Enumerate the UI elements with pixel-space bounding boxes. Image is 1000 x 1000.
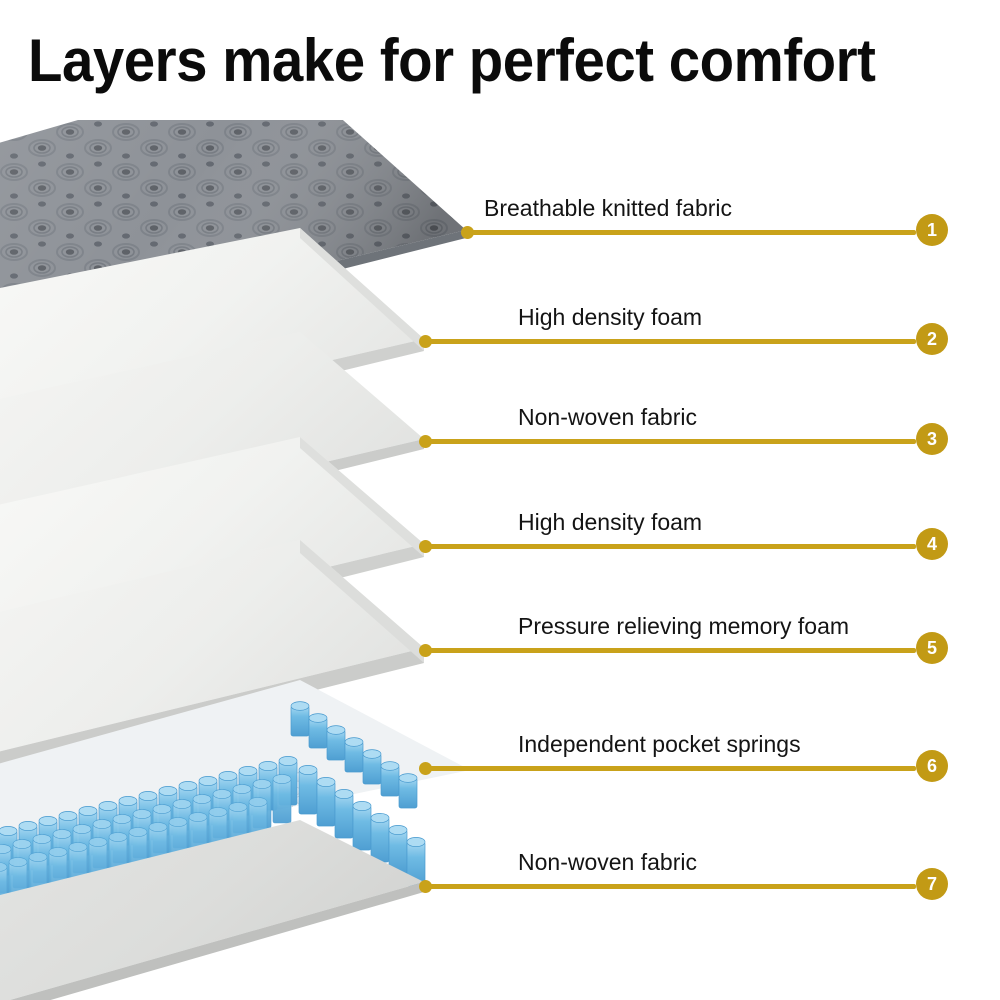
leader-dot-2 bbox=[419, 335, 432, 348]
leader-dot-4 bbox=[419, 540, 432, 553]
infographic-canvas: Layers make for perfect comfort bbox=[0, 0, 1000, 1000]
leader-dot-1 bbox=[461, 226, 474, 239]
layer-badge-6[interactable]: 6 bbox=[916, 750, 948, 782]
layer-badge-5[interactable]: 5 bbox=[916, 632, 948, 664]
layer-label-2: High density foam bbox=[518, 304, 702, 330]
mattress-layer-illustration bbox=[0, 120, 520, 1000]
leader-dot-7 bbox=[419, 880, 432, 893]
leader-line-1 bbox=[466, 230, 916, 235]
leader-line-6 bbox=[424, 766, 916, 771]
layer-label-4: High density foam bbox=[518, 509, 702, 535]
layer-label-1: Breathable knitted fabric bbox=[484, 195, 732, 221]
leader-line-3 bbox=[424, 439, 916, 444]
page-title: Layers make for perfect comfort bbox=[28, 30, 921, 92]
leader-line-2 bbox=[424, 339, 916, 344]
layer-label-6: Independent pocket springs bbox=[518, 731, 801, 757]
layer-label-3: Non-woven fabric bbox=[518, 404, 697, 430]
leader-line-4 bbox=[424, 544, 916, 549]
leader-dot-3 bbox=[419, 435, 432, 448]
layer-label-7: Non-woven fabric bbox=[518, 849, 697, 875]
layer-badge-7[interactable]: 7 bbox=[916, 868, 948, 900]
layer-badge-3[interactable]: 3 bbox=[916, 423, 948, 455]
leader-line-5 bbox=[424, 648, 916, 653]
layer-badge-1[interactable]: 1 bbox=[916, 214, 948, 246]
leader-dot-6 bbox=[419, 762, 432, 775]
leader-line-7 bbox=[424, 884, 916, 889]
layer-badge-4[interactable]: 4 bbox=[916, 528, 948, 560]
layer-badge-2[interactable]: 2 bbox=[916, 323, 948, 355]
layer-label-5: Pressure relieving memory foam bbox=[518, 613, 849, 639]
leader-dot-5 bbox=[419, 644, 432, 657]
